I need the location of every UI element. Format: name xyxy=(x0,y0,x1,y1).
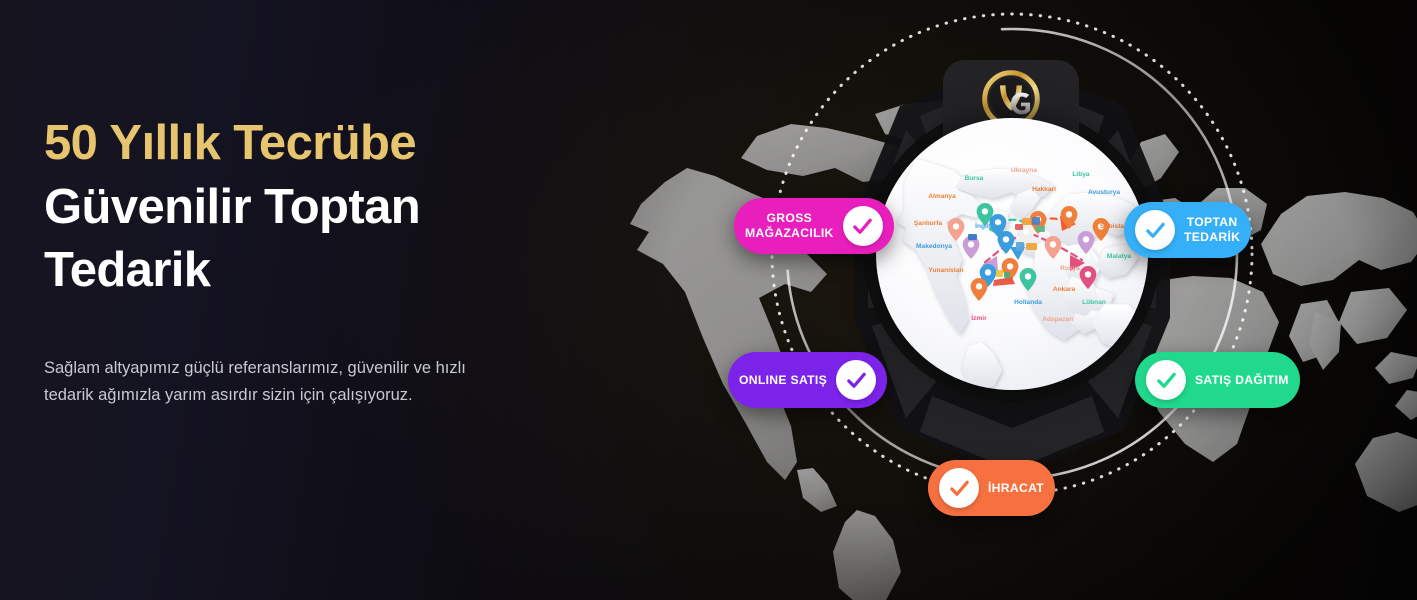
check-icon xyxy=(836,360,876,400)
map-city-label: Ukrayna xyxy=(1011,167,1037,174)
badge-online-label: ONLINE SATIŞ xyxy=(739,373,827,388)
subcopy-line-2: tedarik ağımızla yarım asırdır sizin içi… xyxy=(44,386,413,404)
badge-ihracat[interactable]: İHRACAT xyxy=(928,460,1055,516)
hero-subcopy: Sağlam altyapımız güçlü referanslarımız,… xyxy=(44,355,592,408)
check-icon xyxy=(843,206,883,246)
map-city-label: Lübnan xyxy=(1082,299,1106,306)
map-city-label: Malatya xyxy=(1107,253,1132,260)
hero-banner: 50 Yıllık Tecrübe Güvenilir Toptan Tedar… xyxy=(0,0,1417,600)
map-city-label: Şanlıurfa xyxy=(914,220,943,227)
map-city-label: Yunanistan xyxy=(928,267,963,274)
supply-chain-emblem: YERYÜZÜ GIDA xyxy=(700,22,1320,582)
badge-gross-label: GROSSMAĞAZACILIK xyxy=(745,211,834,241)
map-pin-icon xyxy=(971,278,988,301)
map-city-label: Hakkari xyxy=(1032,186,1056,193)
map-city-label: Bursa xyxy=(965,175,984,182)
map-city-label: Almanya xyxy=(928,193,956,200)
badge-ihracat-label: İHRACAT xyxy=(988,481,1044,496)
map-city-label: İngiltere xyxy=(975,222,1001,230)
badge-online-satis[interactable]: ONLINE SATIŞ xyxy=(728,352,887,408)
badge-toptan-label: TOPTANTEDARİK xyxy=(1184,215,1240,245)
map-city-label: Adapazarı xyxy=(1042,316,1074,323)
badge-satis-dagitim[interactable]: SATIŞ DAĞITIM xyxy=(1135,352,1300,408)
check-icon xyxy=(1135,210,1175,250)
map-city-label: Rusya xyxy=(1060,265,1080,272)
headline-line-1: 50 Yıllık Tecrübe xyxy=(44,112,624,176)
world-trade-map: BursaUkraynaLibyaAlmanyaHakkariAvusturya… xyxy=(876,118,1148,390)
check-icon xyxy=(1146,360,1186,400)
subcopy-line-1: Sağlam altyapımız güçlü referanslarımız,… xyxy=(44,359,466,377)
map-pin-icon xyxy=(998,231,1015,254)
map-city-label: Makedonya xyxy=(916,243,952,250)
map-city-label: Avusturya xyxy=(1088,189,1120,196)
headline-line-2: Güvenilir Toptan xyxy=(44,176,624,240)
badge-gross-magazacilik[interactable]: GROSSMAĞAZACILIK xyxy=(734,198,894,254)
badge-toptan-tedarik[interactable]: TOPTANTEDARİK xyxy=(1124,202,1251,258)
map-city-label: İzmir xyxy=(971,314,987,322)
badge-satis-label: SATIŞ DAĞITIM xyxy=(1195,373,1289,388)
map-city-label: Ankara xyxy=(1053,286,1076,293)
map-city-label: Libya xyxy=(1072,171,1090,178)
map-city-label: Hollanda xyxy=(1014,299,1042,306)
check-icon xyxy=(939,468,979,508)
hero-copy: 50 Yıllık Tecrübe Güvenilir Toptan Tedar… xyxy=(44,112,624,409)
page-title: 50 Yıllık Tecrübe Güvenilir Toptan Tedar… xyxy=(44,112,624,303)
headline-line-3: Tedarik xyxy=(44,239,624,303)
